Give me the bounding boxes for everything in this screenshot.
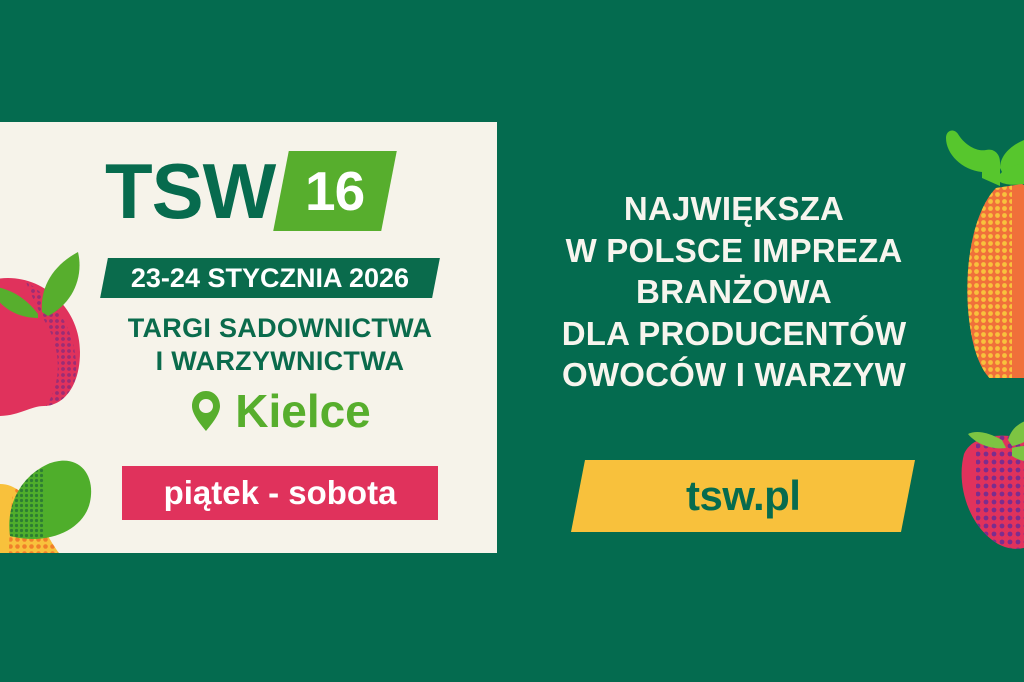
headline-line-1: NAJWIĘKSZA	[500, 188, 968, 230]
website-cta-label: tsw.pl	[686, 472, 800, 520]
map-pin-icon	[189, 388, 223, 434]
headline-line-5: OWOCÓW I WARZYW	[500, 354, 968, 396]
pear-leaf-icon	[4, 458, 98, 540]
event-date-text: 23-24 STYCZNIA 2026	[131, 263, 409, 294]
apple-icon	[0, 270, 84, 420]
edition-badge: 16	[274, 151, 398, 231]
promotional-banner: NAJWIĘKSZA W POLSCE IMPREZA BRANŻOWA DLA…	[0, 0, 1024, 682]
strawberry-icon	[950, 410, 1024, 560]
event-subtitle-line-1: TARGI SADOWNICTWA	[96, 312, 464, 345]
event-subtitle-line-2: I WARZYWNICTWA	[96, 345, 464, 378]
event-date-ribbon: 23-24 STYCZNIA 2026	[100, 258, 440, 298]
event-location: Kielce	[96, 388, 464, 434]
promo-headline: NAJWIĘKSZA W POLSCE IMPREZA BRANŻOWA DLA…	[500, 188, 968, 396]
website-cta-button[interactable]: tsw.pl	[571, 460, 915, 532]
headline-line-3: BRANŻOWA	[500, 271, 968, 313]
pear-icon	[0, 480, 90, 553]
event-city-name: Kielce	[235, 388, 371, 434]
event-days-text: piątek - sobota	[164, 474, 397, 512]
event-subtitle: TARGI SADOWNICTWA I WARZYWNICTWA	[96, 312, 464, 378]
headline-line-2: W POLSCE IMPREZA	[500, 230, 968, 272]
tsw-logo: TSW 16	[105, 148, 389, 234]
tsw-wordmark: TSW	[105, 156, 275, 226]
apple-leaf-icon	[0, 248, 92, 318]
edition-number: 16	[306, 159, 365, 223]
event-days-chip: piątek - sobota	[122, 466, 438, 520]
headline-line-4: DLA PRODUCENTÓW	[500, 313, 968, 355]
event-info-card: TSW 16 23-24 STYCZNIA 2026 TARGI SADOWNI…	[0, 122, 497, 553]
